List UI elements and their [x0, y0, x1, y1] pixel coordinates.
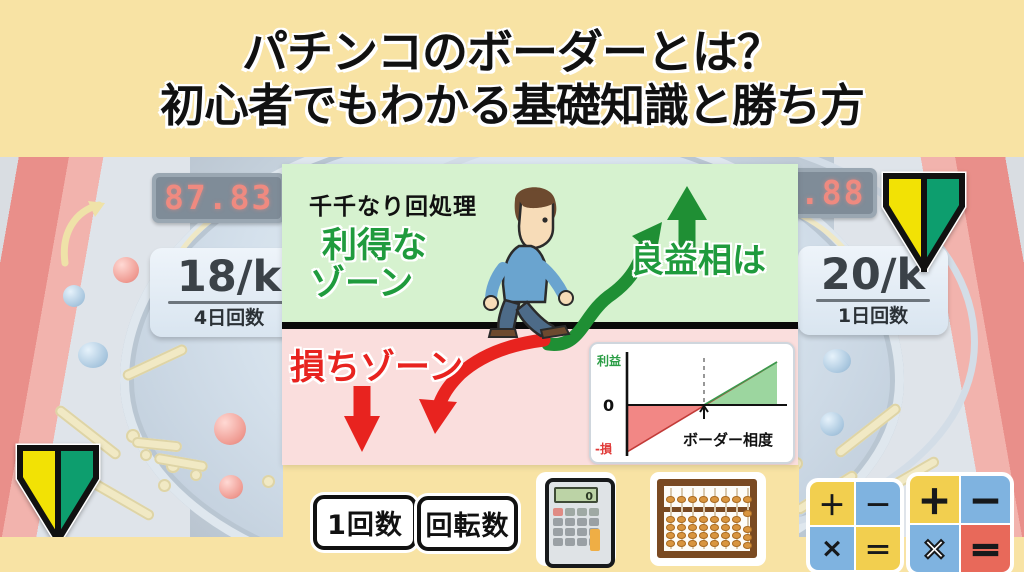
chart-ylabel: 利益 — [597, 352, 621, 369]
operator-keys-icon-2: ＋ － × ＝ — [906, 472, 1014, 572]
operator-equals-icon: ＝ — [856, 527, 900, 570]
pachinko-ball — [823, 349, 851, 373]
led-left-value: 87.83 — [156, 177, 281, 219]
abacus-rods — [664, 486, 750, 551]
up-arrow-head — [667, 186, 707, 220]
chart-zero-tick: 0 — [603, 396, 614, 415]
abacus-icon — [650, 472, 766, 566]
operator-grid: ＋ － × ＝ — [810, 482, 900, 570]
calculator-key — [577, 508, 587, 516]
calculator-key — [565, 528, 575, 536]
counter-left-sub: 4日回数 — [166, 307, 292, 329]
border-profit-chart: 利益 0 -損 ボーダー相度 — [589, 342, 795, 464]
chart-annotation: ボーダー相度 — [683, 429, 773, 450]
led-display-left: 87.83 — [152, 173, 285, 223]
playfield-pin — [158, 479, 171, 492]
pachinko-ball — [63, 285, 85, 307]
title-line-2: 初心者でもわかる基礎知識と勝ち方 — [160, 79, 864, 132]
playfield-pin — [262, 475, 275, 488]
profit-zone-label-line2: ゾーン — [310, 264, 413, 304]
operator-plus-icon: ＋ — [810, 482, 854, 525]
falling-arrow-head — [419, 399, 457, 434]
calculator-key — [577, 538, 587, 546]
operator-keys-icon-1: ＋ － × ＝ — [806, 478, 904, 572]
calculator-equals-key — [590, 529, 600, 551]
calculator-key — [577, 518, 587, 526]
chart-negative-tick: -損 — [595, 440, 612, 457]
pachinko-ball — [219, 475, 243, 499]
operator-minus-icon: － — [856, 482, 900, 525]
infographic-panel: 千千なり回処理 利得な ゾーン 良益相は 損ちゾーン 利益 0 -損 ボーダー相… — [282, 164, 798, 465]
calculator-key — [565, 518, 575, 526]
operator-multiply-icon: × — [810, 527, 854, 570]
profit-right-label: 良益相は — [630, 242, 766, 280]
calculator-key — [553, 538, 563, 546]
operator-plus-icon: ＋ — [910, 476, 959, 523]
calculator-key — [577, 528, 587, 536]
panel-heading: 千千なり回処理 — [309, 187, 477, 221]
calculator-key — [589, 508, 599, 516]
calculator-key — [553, 518, 563, 526]
profit-zone-label-line1: 利得な — [322, 226, 427, 266]
walking-man-icon — [479, 174, 589, 339]
pachinko-ball — [113, 257, 139, 283]
pill-button-1[interactable]: 1回数 — [313, 495, 417, 550]
calculator-key — [553, 508, 563, 516]
calculator-key — [565, 508, 575, 516]
calculator-key — [589, 518, 599, 526]
operator-multiply-icon: × — [910, 525, 959, 572]
calculator-display: 0 — [554, 487, 598, 503]
flow-arrow-icon — [55, 197, 115, 267]
counter-right-sub: 1日回数 — [814, 305, 932, 327]
screenshot-root: 87.83 1.88 18/k 4日回数 20/k 1日回数 — [0, 0, 1024, 572]
playfield-pin — [140, 449, 152, 461]
pill-button-2[interactable]: 回転数 — [417, 496, 518, 551]
calculator-key — [553, 528, 563, 536]
calculator-body: 0 — [545, 478, 615, 568]
wakaba-beginner-mark-icon — [14, 440, 102, 544]
title-line-1: パチンコのボーダーとは？ — [242, 26, 782, 79]
calculator-icon: 0 — [536, 472, 616, 566]
counter-left-value: 18/k — [166, 254, 292, 300]
title-banner: パチンコのボーダーとは？ 初心者でもわかる基礎知識と勝ち方 — [0, 0, 1024, 157]
pachinko-ball — [820, 412, 844, 436]
calculator-key — [565, 538, 575, 546]
pachinko-ball — [78, 342, 108, 368]
operator-grid: ＋ － × ＝ — [910, 476, 1010, 572]
loss-zone-label: 損ちゾーン — [290, 348, 463, 388]
pachinko-ball — [214, 413, 246, 445]
operator-equals-icon: ＝ — [961, 525, 1010, 572]
abacus-frame — [657, 479, 757, 558]
down-arrow-head — [344, 416, 380, 452]
operator-minus-icon: － — [961, 476, 1010, 523]
wakaba-beginner-mark-icon — [880, 168, 968, 272]
